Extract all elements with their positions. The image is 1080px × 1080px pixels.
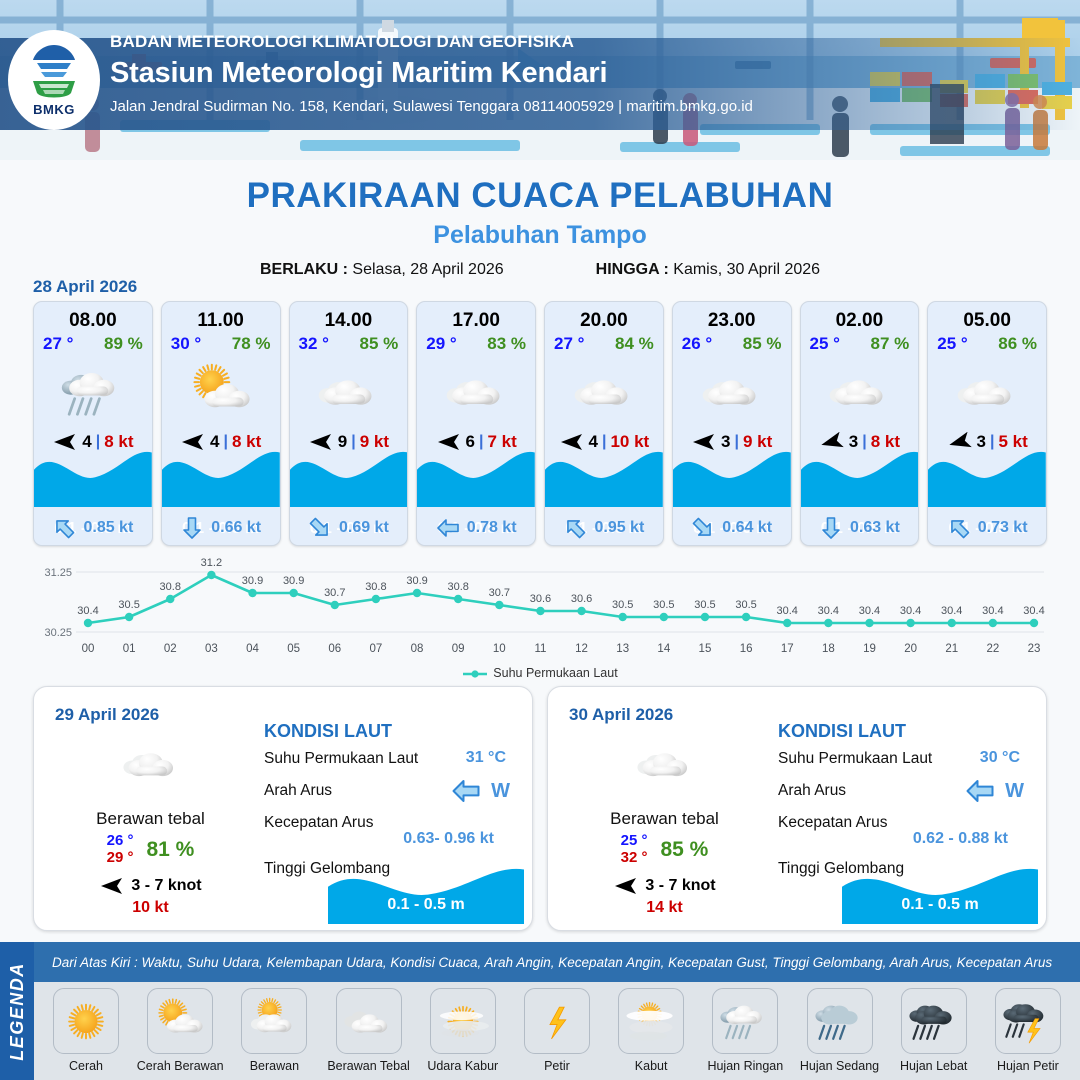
panel-weather-icon xyxy=(48,735,253,795)
chart-point xyxy=(495,601,503,609)
legenda-item: Cerah Berawan xyxy=(136,988,224,1073)
chart-point-label: 30.5 xyxy=(694,599,715,611)
card-current-speed: 0.63 kt xyxy=(850,519,900,537)
panel-sst-value: 31 °C xyxy=(466,749,506,767)
chart-point xyxy=(783,619,791,627)
weather-icon-rain-light xyxy=(719,997,771,1045)
chart-xtick: 23 xyxy=(1028,643,1041,655)
card-time: 23.00 xyxy=(673,310,791,332)
chart-point-label: 30.6 xyxy=(571,593,592,605)
chart-xtick: 18 xyxy=(822,643,835,655)
panel-wave-block: 0.1 - 0.5 m xyxy=(328,862,524,924)
weather-icon-cloudy xyxy=(699,362,765,423)
legenda-item-label: Berawan Tebal xyxy=(325,1059,413,1073)
validity-row: BERLAKU : Selasa, 28 April 2026 HINGGA :… xyxy=(0,261,1080,279)
hourly-card: 08.00 27 ° 89 % xyxy=(33,301,153,546)
panel-sst-row: Suhu Permukaan Laut 31 °C xyxy=(264,746,520,778)
header-text-block: BADAN METEOROLOGI KLIMATOLOGI DAN GEOFIS… xyxy=(110,32,753,115)
chart-xtick: 06 xyxy=(328,643,341,655)
card-time: 08.00 xyxy=(34,310,152,332)
legenda-item: Berawan Tebal xyxy=(325,988,413,1073)
card-current-speed: 0.73 kt xyxy=(978,519,1028,537)
chart-point-label: 30.6 xyxy=(530,593,551,605)
legenda-item: Kabut xyxy=(607,988,695,1073)
chart-xtick: 13 xyxy=(616,643,629,655)
chart-xtick: 17 xyxy=(781,643,794,655)
chart-xtick: 22 xyxy=(986,643,999,655)
chart-xtick: 16 xyxy=(740,643,753,655)
weather-icon-partly-cloudy xyxy=(154,997,206,1045)
weather-icon-overcast xyxy=(343,997,395,1045)
chart-point xyxy=(331,601,339,609)
chart-point-label: 30.4 xyxy=(941,605,962,617)
current-direction-arrow xyxy=(947,516,971,540)
panel-wave-block: 0.1 - 0.5 m xyxy=(842,862,1038,924)
card-wave-block xyxy=(290,445,408,507)
chart-point xyxy=(577,607,585,615)
panel-gust: 10 kt xyxy=(48,899,253,917)
chart-point-label: 30.9 xyxy=(283,575,304,587)
chart-xtick: 09 xyxy=(452,643,465,655)
card-temp-hum-row: 25 ° 86 % xyxy=(928,332,1046,354)
panel-current-dir-value: W xyxy=(1005,780,1024,803)
page-header: BMKG BADAN METEOROLOGI KLIMATOLOGI DAN G… xyxy=(0,0,1080,160)
weather-icon-haze xyxy=(437,997,489,1045)
card-current-row: 0.78 kt xyxy=(417,516,535,540)
daily-summary-row: 29 April 2026 Berawan tebal xyxy=(33,686,1047,931)
chart-xtick: 03 xyxy=(205,643,218,655)
legenda-icon-tile xyxy=(618,988,684,1054)
panel-weather-icon xyxy=(562,735,767,795)
title-block: PRAKIRAAN CUACA PELABUHAN Pelabuhan Tamp… xyxy=(0,160,1080,279)
card-temp-hum-row: 32 ° 85 % xyxy=(290,332,408,354)
card-wave-block xyxy=(545,445,663,507)
legenda-item: Hujan Lebat xyxy=(890,988,978,1073)
panel-wind-row: 3 - 7 knot xyxy=(562,876,767,896)
card-humidity: 84 % xyxy=(615,334,654,354)
chart-point xyxy=(289,589,297,597)
chart-point-label: 30.8 xyxy=(447,581,468,593)
chart-legend: Suhu Permukaan Laut xyxy=(0,666,1080,680)
card-time: 17.00 xyxy=(417,310,535,332)
chart-xtick: 14 xyxy=(657,643,670,655)
chart-xtick: 15 xyxy=(699,643,712,655)
card-time: 20.00 xyxy=(545,310,663,332)
card-current-row: 0.64 kt xyxy=(673,516,791,540)
wave-graphic xyxy=(290,445,408,507)
wave-graphic xyxy=(801,445,919,507)
current-direction-arrow xyxy=(436,516,460,540)
agency-name: BADAN METEOROLOGI KLIMATOLOGI DAN GEOFIS… xyxy=(110,32,753,52)
port-name: Pelabuhan Tampo xyxy=(0,221,1080,250)
weather-icon-partly-cloudy xyxy=(188,362,254,423)
card-temperature: 25 ° xyxy=(810,334,840,354)
legenda-item-label: Kabut xyxy=(607,1059,695,1073)
card-temperature: 27 ° xyxy=(554,334,584,354)
chart-xtick: 04 xyxy=(246,643,259,655)
chart-point xyxy=(207,571,215,579)
legenda-item-label: Berawan xyxy=(230,1059,318,1073)
chart-point-label: 30.4 xyxy=(77,605,98,617)
card-current-row: 0.69 kt xyxy=(290,516,408,540)
bmkg-logo: BMKG xyxy=(8,30,100,130)
panel-current-dir-row: Arah Arus W xyxy=(264,778,520,810)
chart-point-label: 30.4 xyxy=(777,605,798,617)
hourly-date-label: 28 April 2026 xyxy=(33,277,137,297)
weather-icon-rain-light xyxy=(60,362,126,423)
legenda-icon-tile xyxy=(336,988,402,1054)
panel-sst-label: Suhu Permukaan Laut xyxy=(778,750,932,768)
panel-sea-title: KONDISI LAUT xyxy=(778,721,1034,742)
chart-point xyxy=(84,619,92,627)
chart-xtick: 00 xyxy=(82,643,95,655)
panel-sst-value: 30 °C xyxy=(980,749,1020,767)
legenda-item-label: Cerah Berawan xyxy=(136,1059,224,1073)
card-temperature: 25 ° xyxy=(937,334,967,354)
card-temperature: 32 ° xyxy=(299,334,329,354)
panel-current-dir-value-group: W xyxy=(963,776,1024,806)
chart-point-label: 30.4 xyxy=(818,605,839,617)
daily-summary-panel: 29 April 2026 Berawan tebal xyxy=(33,686,533,931)
wave-graphic xyxy=(545,445,663,507)
chart-point xyxy=(865,619,873,627)
legenda-tab: LEGENDA xyxy=(0,942,34,1080)
chart-point-label: 31.2 xyxy=(201,557,222,569)
card-temperature: 27 ° xyxy=(43,334,73,354)
card-current-row: 0.63 kt xyxy=(801,516,919,540)
legenda-item: Hujan Petir xyxy=(984,988,1072,1073)
weather-icon-sunny xyxy=(60,997,112,1045)
current-direction-arrow xyxy=(563,516,587,540)
panel-gust: 14 kt xyxy=(562,899,767,917)
chart-xtick: 01 xyxy=(123,643,136,655)
weather-icon-cloudy xyxy=(571,362,637,423)
wave-graphic xyxy=(928,445,1046,507)
panel-condition: Berawan tebal xyxy=(562,809,767,829)
chart-point-label: 30.9 xyxy=(406,575,427,587)
bmkg-logo-mark xyxy=(27,43,81,101)
legenda-item: Hujan Ringan xyxy=(701,988,789,1073)
weather-icon-lightning xyxy=(531,997,583,1045)
chart-point xyxy=(742,613,750,621)
legenda-icon-tile xyxy=(524,988,590,1054)
legenda-item: Udara Kabur xyxy=(419,988,507,1073)
chart-point xyxy=(454,595,462,603)
card-temp-hum-row: 27 ° 89 % xyxy=(34,332,152,354)
hourly-card: 23.00 26 ° 85 % xyxy=(672,301,792,546)
wave-graphic xyxy=(328,862,524,924)
weather-icon-mostly-cloudy xyxy=(248,997,300,1045)
card-time: 05.00 xyxy=(928,310,1046,332)
weather-icon-cloudy xyxy=(826,362,892,423)
hourly-card: 20.00 27 ° 84 % xyxy=(544,301,664,546)
station-name: Stasiun Meteorologi Maritim Kendari xyxy=(110,57,753,90)
card-current-row: 0.73 kt xyxy=(928,516,1046,540)
chart-point xyxy=(536,607,544,615)
card-temperature: 26 ° xyxy=(682,334,712,354)
current-direction-arrow xyxy=(308,516,332,540)
legenda-item-label: Hujan Lebat xyxy=(890,1059,978,1073)
panel-wind-range: 3 - 7 knot xyxy=(645,877,715,895)
weather-icon-cloudy xyxy=(954,362,1020,423)
chart-point-label: 30.4 xyxy=(1023,605,1044,617)
chart-point-label: 30.8 xyxy=(365,581,386,593)
chart-point-label: 30.4 xyxy=(982,605,1003,617)
hourly-forecast-row: 08.00 27 ° 89 % xyxy=(33,301,1047,546)
panel-current-speed-label: Kecepatan Arus xyxy=(778,814,887,832)
card-humidity: 89 % xyxy=(104,334,143,354)
panel-sst-label: Suhu Permukaan Laut xyxy=(264,750,418,768)
legenda-note-bar: Dari Atas Kiri : Waktu, Suhu Udara, Kele… xyxy=(34,942,1080,982)
station-address: Jalan Jendral Sudirman No. 158, Kendari,… xyxy=(110,98,753,115)
legenda-icon-tile xyxy=(53,988,119,1054)
weather-icon-rain-heavy xyxy=(908,997,960,1045)
chart-legend-label: Suhu Permukaan Laut xyxy=(493,666,617,680)
chart-xtick: 19 xyxy=(863,643,876,655)
legenda-item-label: Udara Kabur xyxy=(419,1059,507,1073)
weather-icon-fog xyxy=(625,997,677,1045)
card-humidity: 87 % xyxy=(871,334,910,354)
wave-graphic xyxy=(34,445,152,507)
legenda-icon-tile xyxy=(430,988,496,1054)
panel-current-dir-row: Arah Arus W xyxy=(778,778,1034,810)
chart-point xyxy=(413,589,421,597)
card-temp-hum-row: 30 ° 78 % xyxy=(162,332,280,354)
card-temp-hum-row: 27 ° 84 % xyxy=(545,332,663,354)
card-current-row: 0.85 kt xyxy=(34,516,152,540)
chart-point xyxy=(824,619,832,627)
card-current-speed: 0.64 kt xyxy=(722,519,772,537)
card-current-row: 0.95 kt xyxy=(545,516,663,540)
legenda-icon-tile xyxy=(712,988,778,1054)
chart-point-label: 30.8 xyxy=(160,581,181,593)
chart-point xyxy=(618,613,626,621)
weather-icon-cloudy xyxy=(120,736,182,793)
panel-temps-row: 25 ° 32 ° 85 % xyxy=(562,833,767,867)
chart-point-label: 30.4 xyxy=(859,605,880,617)
panel-left-block: Berawan tebal 26 ° 29 ° 81 % 3 - 7 knot … xyxy=(48,735,253,917)
card-weather-icon xyxy=(34,356,152,428)
chart-point xyxy=(906,619,914,627)
chart-point-label: 30.7 xyxy=(489,587,510,599)
hourly-card: 17.00 29 ° 83 % xyxy=(416,301,536,546)
card-weather-icon xyxy=(928,356,1046,428)
chart-point xyxy=(948,619,956,627)
chart-legend-swatch xyxy=(462,669,488,679)
chart-point xyxy=(166,595,174,603)
bmkg-logo-text: BMKG xyxy=(33,102,75,117)
card-weather-icon xyxy=(417,356,535,428)
card-weather-icon xyxy=(162,356,280,428)
legenda-item-label: Petir xyxy=(513,1059,601,1073)
valid-until: HINGGA : Kamis, 30 April 2026 xyxy=(596,261,820,279)
card-humidity: 85 % xyxy=(743,334,782,354)
weather-icon-cloudy xyxy=(315,362,381,423)
chart-xtick: 07 xyxy=(370,643,383,655)
chart-point xyxy=(372,595,380,603)
valid-until-value: Kamis, 30 April 2026 xyxy=(673,261,820,278)
current-direction-arrow xyxy=(180,516,204,540)
legenda-icon-tile xyxy=(807,988,873,1054)
wave-graphic xyxy=(417,445,535,507)
panel-current-speed-row: Kecepatan Arus 0.62 - 0.88 kt xyxy=(778,810,1034,856)
card-time: 02.00 xyxy=(801,310,919,332)
panel-temp-col: 25 ° 32 ° xyxy=(621,833,648,867)
panel-condition: Berawan tebal xyxy=(48,809,253,829)
wave-graphic xyxy=(673,445,791,507)
panel-wave-value: 0.1 - 0.5 m xyxy=(328,896,524,914)
hourly-card: 05.00 25 ° 86 % xyxy=(927,301,1047,546)
chart-xtick: 10 xyxy=(493,643,506,655)
card-current-speed: 0.95 kt xyxy=(594,519,644,537)
chart-point-label: 30.4 xyxy=(900,605,921,617)
card-time: 11.00 xyxy=(162,310,280,332)
chart-point xyxy=(660,613,668,621)
chart-point xyxy=(701,613,709,621)
panel-sea-title: KONDISI LAUT xyxy=(264,721,520,742)
card-humidity: 85 % xyxy=(360,334,399,354)
legenda-item: Petir xyxy=(513,988,601,1073)
card-current-speed: 0.85 kt xyxy=(83,519,133,537)
chart-xtick: 20 xyxy=(904,643,917,655)
panel-wind-range: 3 - 7 knot xyxy=(131,877,201,895)
panel-humidity: 81 % xyxy=(146,838,194,862)
panel-current-dir-label: Arah Arus xyxy=(778,782,846,800)
panel-current-dir-value-group: W xyxy=(449,776,510,806)
card-weather-icon xyxy=(801,356,919,428)
panel-temp-min: 26 ° xyxy=(107,833,134,850)
panel-current-dir-value: W xyxy=(491,780,510,803)
card-wave-block xyxy=(162,445,280,507)
card-temperature: 29 ° xyxy=(426,334,456,354)
valid-from-label: BERLAKU : xyxy=(260,261,348,278)
card-current-row: 0.66 kt xyxy=(162,516,280,540)
chart-point xyxy=(248,589,256,597)
card-wave-block xyxy=(801,445,919,507)
card-humidity: 78 % xyxy=(232,334,271,354)
card-wave-block xyxy=(34,445,152,507)
card-humidity: 83 % xyxy=(487,334,526,354)
panel-current-speed-row: Kecepatan Arus 0.63- 0.96 kt xyxy=(264,810,520,856)
legenda-item: Hujan Sedang xyxy=(796,988,884,1073)
chart-point xyxy=(1030,619,1038,627)
weather-icon-rain-moderate xyxy=(814,997,866,1045)
hourly-card: 11.00 30 ° 78 % 4 | 8 xyxy=(161,301,281,546)
card-weather-icon xyxy=(290,356,408,428)
chart-xtick: 08 xyxy=(411,643,424,655)
wave-graphic xyxy=(842,862,1038,924)
legenda-icon-tile xyxy=(995,988,1061,1054)
legenda-items: Cerah Cerah Berawan xyxy=(34,982,1080,1080)
panel-date: 30 April 2026 xyxy=(569,705,673,725)
panel-temp-min: 25 ° xyxy=(621,833,648,850)
chart-point-label: 30.5 xyxy=(653,599,674,611)
chart-point xyxy=(125,613,133,621)
chart-point-label: 30.5 xyxy=(118,599,139,611)
daily-summary-panel: 30 April 2026 Berawan tebal xyxy=(547,686,1047,931)
card-current-speed: 0.66 kt xyxy=(211,519,261,537)
chart-xtick: 21 xyxy=(945,643,958,655)
weather-icon-cloudy xyxy=(443,362,509,423)
legenda-icon-tile xyxy=(901,988,967,1054)
valid-from: BERLAKU : Selasa, 28 April 2026 xyxy=(260,261,504,279)
chart-point-label: 30.5 xyxy=(612,599,633,611)
panel-temp-max: 29 ° xyxy=(107,850,134,867)
panel-left-block: Berawan tebal 25 ° 32 ° 85 % 3 - 7 knot … xyxy=(562,735,767,917)
legenda-icon-tile xyxy=(241,988,307,1054)
card-humidity: 86 % xyxy=(998,334,1037,354)
chart-point xyxy=(989,619,997,627)
current-direction-arrow xyxy=(963,776,997,806)
legenda-item: Cerah xyxy=(42,988,130,1073)
panel-current-dir-label: Arah Arus xyxy=(264,782,332,800)
valid-from-value: Selasa, 28 April 2026 xyxy=(352,261,503,278)
card-temp-hum-row: 26 ° 85 % xyxy=(673,332,791,354)
panel-temps-row: 26 ° 29 ° 81 % xyxy=(48,833,253,867)
card-time: 14.00 xyxy=(290,310,408,332)
chart-xtick: 11 xyxy=(534,643,546,655)
card-temp-hum-row: 29 ° 83 % xyxy=(417,332,535,354)
current-direction-arrow xyxy=(449,776,483,806)
current-direction-arrow xyxy=(52,516,76,540)
card-weather-icon xyxy=(545,356,663,428)
chart-xtick: 02 xyxy=(164,643,177,655)
chart-xtick: 05 xyxy=(287,643,300,655)
panel-current-speed-value: 0.63- 0.96 kt xyxy=(403,830,494,848)
chart-ytick: 30.25 xyxy=(44,627,72,639)
panel-wave-value: 0.1 - 0.5 m xyxy=(842,896,1038,914)
wind-direction-arrow xyxy=(613,876,639,896)
chart-ytick: 31.25 xyxy=(44,567,72,579)
panel-current-speed-label: Kecepatan Arus xyxy=(264,814,373,832)
legenda-item-label: Hujan Petir xyxy=(984,1059,1072,1073)
legenda-item-label: Hujan Ringan xyxy=(701,1059,789,1073)
panel-temp-max: 32 ° xyxy=(621,850,648,867)
card-wave-block xyxy=(928,445,1046,507)
hourly-card: 14.00 32 ° 85 % xyxy=(289,301,409,546)
card-temp-hum-row: 25 ° 87 % xyxy=(801,332,919,354)
weather-icon-cloudy xyxy=(634,736,696,793)
card-wave-block xyxy=(673,445,791,507)
card-temperature: 30 ° xyxy=(171,334,201,354)
legenda-item-label: Hujan Sedang xyxy=(796,1059,884,1073)
card-current-speed: 0.78 kt xyxy=(467,519,517,537)
wave-graphic xyxy=(162,445,280,507)
card-wave-block xyxy=(417,445,535,507)
chart-point-label: 30.5 xyxy=(735,599,756,611)
chart-point-label: 30.9 xyxy=(242,575,263,587)
legenda-item-label: Cerah xyxy=(42,1059,130,1073)
page-title: PRAKIRAAN CUACA PELABUHAN xyxy=(0,176,1080,216)
chart-xtick: 12 xyxy=(575,643,588,655)
sst-chart: 31.2530.2530.40030.50130.80231.20330.904… xyxy=(30,556,1050,676)
panel-date: 29 April 2026 xyxy=(55,705,159,725)
card-current-speed: 0.69 kt xyxy=(339,519,389,537)
legenda-icon-tile xyxy=(147,988,213,1054)
valid-until-label: HINGGA : xyxy=(596,261,669,278)
current-direction-arrow xyxy=(691,516,715,540)
card-weather-icon xyxy=(673,356,791,428)
panel-humidity: 85 % xyxy=(660,838,708,862)
legenda-section: LEGENDA Dari Atas Kiri : Waktu, Suhu Uda… xyxy=(0,942,1080,1080)
legenda-item: Berawan xyxy=(230,988,318,1073)
wind-direction-arrow xyxy=(99,876,125,896)
weather-icon-thunderstorm xyxy=(1002,997,1054,1045)
panel-sst-row: Suhu Permukaan Laut 30 °C xyxy=(778,746,1034,778)
legenda-note: Dari Atas Kiri : Waktu, Suhu Udara, Kele… xyxy=(34,955,1052,970)
legenda-tab-label: LEGENDA xyxy=(7,962,28,1061)
hourly-card: 02.00 25 ° 87 % xyxy=(800,301,920,546)
